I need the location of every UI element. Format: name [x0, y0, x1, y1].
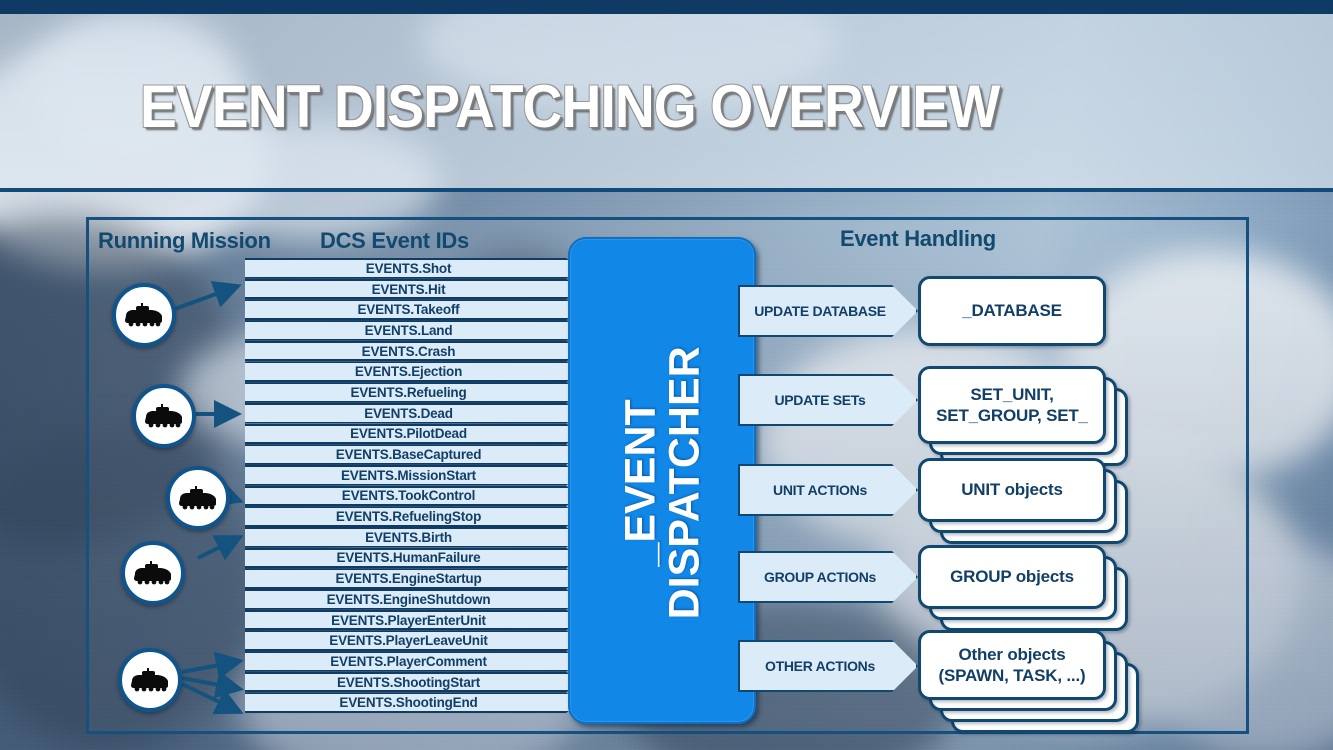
event-id-item[interactable]: EVENTS.TookControl — [245, 486, 580, 507]
handling-action-1[interactable]: UPDATE DATABASE — [738, 285, 918, 337]
armored-vehicle-icon — [142, 403, 186, 429]
slide-canvas: EVENT DISPATCHING OVERVIEW Running Missi… — [0, 0, 1333, 750]
event-id-item[interactable]: EVENTS.MissionStart — [245, 465, 580, 486]
handling-object-stack-1: _DATABASE — [918, 276, 1106, 346]
event-id-label: EVENTS.Birth — [365, 530, 452, 545]
handling-object-box-4[interactable]: GROUP objects — [918, 545, 1106, 609]
armored-vehicle-icon — [131, 560, 175, 586]
event-id-label: EVENTS.Crash — [362, 344, 456, 359]
event-id-label: EVENTS.Refueling — [350, 385, 466, 400]
event-id-label: EVENTS.TookControl — [342, 488, 475, 503]
event-id-label: EVENTS.Hit — [372, 282, 446, 297]
handling-action-label: UPDATE SETs — [774, 392, 865, 408]
event-id-item[interactable]: EVENTS.PlayerComment — [245, 651, 580, 672]
event-id-label: EVENTS.ShootingEnd — [339, 695, 477, 710]
event-id-item[interactable]: EVENTS.Hit — [245, 279, 580, 300]
event-id-item[interactable]: EVENTS.RefuelingStop — [245, 506, 580, 527]
mission-unit-1[interactable] — [112, 283, 176, 347]
event-id-label: EVENTS.EngineShutdown — [327, 592, 491, 607]
handling-object-label: UNIT objects — [961, 479, 1063, 500]
event-id-item[interactable]: EVENTS.PilotDead — [245, 424, 580, 445]
handling-object-box-5[interactable]: Other objects(SPAWN, TASK, ...) — [918, 630, 1106, 700]
handling-object-stack-2: SET_UNIT,SET_GROUP, SET_ — [918, 366, 1128, 466]
handling-object-stack-5: Other objects(SPAWN, TASK, ...) — [918, 630, 1139, 733]
event-id-label: EVENTS.Takeoff — [358, 302, 460, 317]
mission-unit-2[interactable] — [132, 384, 196, 448]
event-id-label: EVENTS.EngineStartup — [335, 571, 481, 586]
event-id-label: EVENTS.MissionStart — [341, 468, 476, 483]
handling-object-label: GROUP objects — [950, 566, 1074, 587]
column-header-running-mission: Running Mission — [98, 228, 271, 254]
handling-object-label: SET_UNIT,SET_GROUP, SET_ — [936, 384, 1088, 427]
dispatcher-line-1: _EVENT — [620, 346, 664, 619]
handling-action-4[interactable]: GROUP ACTIONs — [738, 551, 918, 603]
event-id-item[interactable]: EVENTS.Shot — [245, 258, 580, 279]
column-header-event-handling: Event Handling — [840, 226, 996, 252]
handling-object-label: _DATABASE — [962, 300, 1062, 321]
event-id-label: EVENTS.Shot — [366, 261, 452, 276]
event-dispatcher-block[interactable]: _EVENT DISPATCHER — [568, 237, 756, 724]
mission-unit-4[interactable] — [121, 541, 185, 605]
column-header-dcs-event-ids: DCS Event IDs — [320, 228, 469, 254]
event-id-item[interactable]: EVENTS.PlayerLeaveUnit — [245, 630, 580, 651]
event-id-item[interactable]: EVENTS.PlayerEnterUnit — [245, 610, 580, 631]
event-id-label: EVENTS.PlayerEnterUnit — [331, 613, 486, 628]
event-id-label: EVENTS.RefuelingStop — [336, 509, 481, 524]
event-id-label: EVENTS.Dead — [364, 406, 453, 421]
event-id-item[interactable]: EVENTS.HumanFailure — [245, 548, 580, 569]
event-dispatcher-label: _EVENT DISPATCHER — [570, 239, 758, 726]
event-id-item[interactable]: EVENTS.Land — [245, 320, 580, 341]
event-id-label: EVENTS.PlayerLeaveUnit — [329, 633, 487, 648]
handling-object-box-2[interactable]: SET_UNIT,SET_GROUP, SET_ — [918, 366, 1106, 444]
handling-action-label: OTHER ACTIONs — [765, 658, 875, 674]
event-id-item[interactable]: EVENTS.Birth — [245, 527, 580, 548]
event-id-item[interactable]: EVENTS.Dead — [245, 403, 580, 424]
event-id-item[interactable]: EVENTS.ShootingEnd — [245, 692, 580, 713]
event-id-item[interactable]: EVENTS.Refueling — [245, 382, 580, 403]
event-id-item[interactable]: EVENTS.ShootingStart — [245, 672, 580, 693]
handling-action-2[interactable]: UPDATE SETs — [738, 374, 918, 426]
dispatcher-line-2: DISPATCHER — [664, 346, 708, 619]
mission-unit-5[interactable] — [118, 648, 182, 712]
handling-action-label: UPDATE DATABASE — [754, 303, 886, 319]
event-id-item[interactable]: EVENTS.EngineShutdown — [245, 589, 580, 610]
handling-object-box-1[interactable]: _DATABASE — [918, 276, 1106, 346]
handling-action-5[interactable]: OTHER ACTIONs — [738, 640, 918, 692]
armored-vehicle-icon — [122, 302, 166, 328]
handling-action-3[interactable]: UNIT ACTIONs — [738, 464, 918, 516]
event-id-item[interactable]: EVENTS.Ejection — [245, 361, 580, 382]
handling-object-stack-4: GROUP objects — [918, 545, 1128, 631]
event-id-label: EVENTS.PlayerComment — [330, 654, 487, 669]
handling-action-label: UNIT ACTIONs — [773, 482, 867, 498]
handling-object-box-3[interactable]: UNIT objects — [918, 458, 1106, 522]
event-id-item[interactable]: EVENTS.EngineStartup — [245, 568, 580, 589]
top-accent-bar — [0, 0, 1333, 14]
handling-object-label: Other objects(SPAWN, TASK, ...) — [939, 644, 1086, 687]
armored-vehicle-icon — [176, 485, 220, 511]
handling-action-label: GROUP ACTIONs — [764, 569, 876, 585]
event-id-list: EVENTS.ShotEVENTS.HitEVENTS.TakeoffEVENT… — [245, 258, 580, 713]
event-id-label: EVENTS.PilotDead — [350, 426, 467, 441]
event-id-label: EVENTS.Ejection — [355, 364, 462, 379]
armored-vehicle-icon — [128, 667, 172, 693]
handling-object-stack-3: UNIT objects — [918, 458, 1128, 544]
event-id-item[interactable]: EVENTS.Crash — [245, 341, 580, 362]
event-id-item[interactable]: EVENTS.BaseCaptured — [245, 444, 580, 465]
mission-unit-3[interactable] — [166, 466, 230, 530]
event-id-label: EVENTS.ShootingStart — [337, 675, 480, 690]
event-id-label: EVENTS.Land — [365, 323, 453, 338]
page-title: EVENT DISPATCHING OVERVIEW — [140, 72, 999, 141]
event-id-item[interactable]: EVENTS.Takeoff — [245, 299, 580, 320]
event-id-label: EVENTS.HumanFailure — [337, 550, 481, 565]
event-id-label: EVENTS.BaseCaptured — [336, 447, 482, 462]
